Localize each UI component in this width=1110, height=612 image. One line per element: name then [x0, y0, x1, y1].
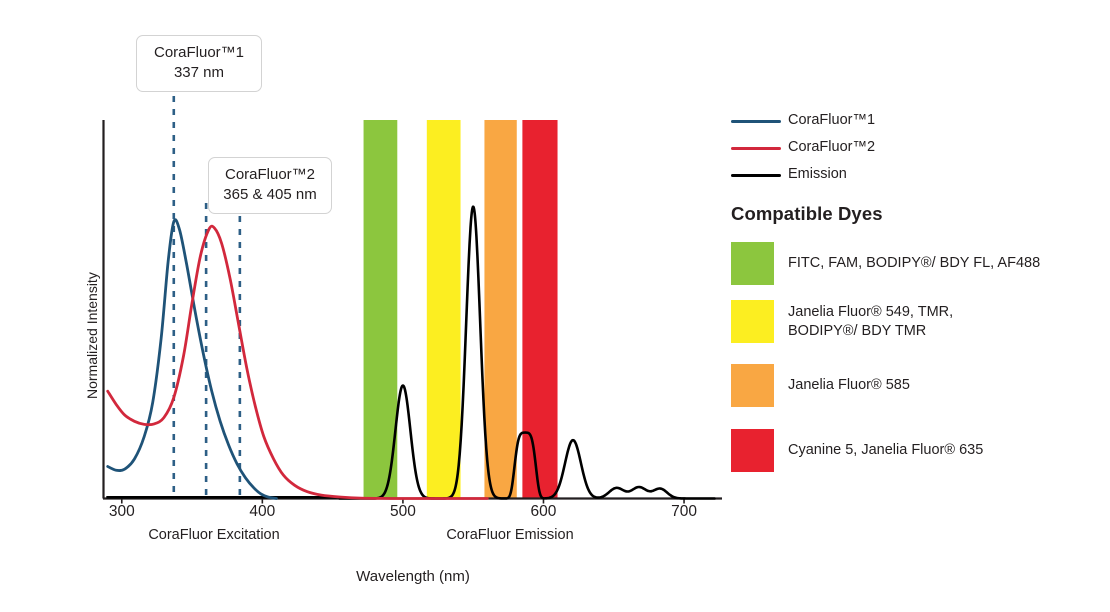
- legend-dye-row-1: Janelia Fluor® 549, TMR,BODIPY®/ BDY TMR: [731, 300, 1091, 344]
- callout-corafluor2-line1: CoraFluor™2: [221, 165, 319, 185]
- legend-dye-label-1: Janelia Fluor® 549, TMR,BODIPY®/ BDY TMR: [788, 303, 953, 341]
- legend-dye-swatch-0: [731, 242, 774, 285]
- compatible-dyes-title: Compatible Dyes: [731, 203, 1091, 225]
- legend-line-label-2: Emission: [788, 162, 847, 187]
- x-tick-700: 700: [654, 503, 714, 521]
- curve-excitation-337: [108, 220, 277, 499]
- legend-dye-label-2: Janelia Fluor® 585: [788, 376, 910, 395]
- color-band-2: [484, 120, 516, 499]
- legend-line-swatch-0: [731, 120, 781, 123]
- legend-dye-swatch-2: [731, 364, 774, 407]
- y-axis-title: Normalized Intensity: [84, 272, 100, 399]
- color-band-0: [364, 120, 398, 499]
- emission-curve: [106, 207, 714, 499]
- legend-dye-row-3: Cyanine 5, Janelia Fluor® 635: [731, 429, 1091, 473]
- x-region-label-emission: CoraFluor Emission: [410, 527, 610, 543]
- legend-dye-entries: FITC, FAM, BODIPY®/ BDY FL, AF488Janelia…: [731, 242, 1091, 473]
- legend-dye-swatch-3: [731, 429, 774, 472]
- legend-dye-row-0: FITC, FAM, BODIPY®/ BDY FL, AF488: [731, 242, 1091, 286]
- callout-corafluor1-line2: 337 nm: [149, 63, 249, 83]
- color-band-3: [522, 120, 557, 499]
- callout-corafluor2: CoraFluor™2 365 & 405 nm: [208, 157, 332, 214]
- legend-line-row-1: CoraFluor™2: [731, 135, 1091, 162]
- legend-line-swatch-1: [731, 147, 781, 150]
- legend-dye-label-3: Cyanine 5, Janelia Fluor® 635: [788, 441, 983, 460]
- legend-line-row-0: CoraFluor™1: [731, 108, 1091, 135]
- x-tick-600: 600: [513, 503, 573, 521]
- legend-dye-label-0: FITC, FAM, BODIPY®/ BDY FL, AF488: [788, 254, 1040, 273]
- legend-line-row-2: Emission: [731, 162, 1091, 189]
- legend-line-label-1: CoraFluor™2: [788, 135, 875, 160]
- x-tick-400: 400: [232, 503, 292, 521]
- x-axis-title: Wavelength (nm): [263, 568, 563, 585]
- callout-corafluor2-line2: 365 & 405 nm: [221, 185, 319, 205]
- x-tick-300: 300: [92, 503, 152, 521]
- callout-corafluor1-line1: CoraFluor™1: [149, 43, 249, 63]
- callout-corafluor1: CoraFluor™1 337 nm: [136, 35, 262, 92]
- legend-line-swatch-2: [731, 174, 781, 177]
- legend-dye-row-2: Janelia Fluor® 585: [731, 364, 1091, 408]
- legend-line-entries: CoraFluor™1CoraFluor™2Emission: [731, 108, 1091, 189]
- color-band-1: [427, 120, 461, 499]
- x-region-label-excitation: CoraFluor Excitation: [114, 527, 314, 543]
- x-tick-500: 500: [373, 503, 433, 521]
- legend-dye-swatch-1: [731, 300, 774, 343]
- legend-line-label-0: CoraFluor™1: [788, 108, 875, 133]
- legend-panel: CoraFluor™1CoraFluor™2Emission Compatibl…: [731, 108, 1091, 473]
